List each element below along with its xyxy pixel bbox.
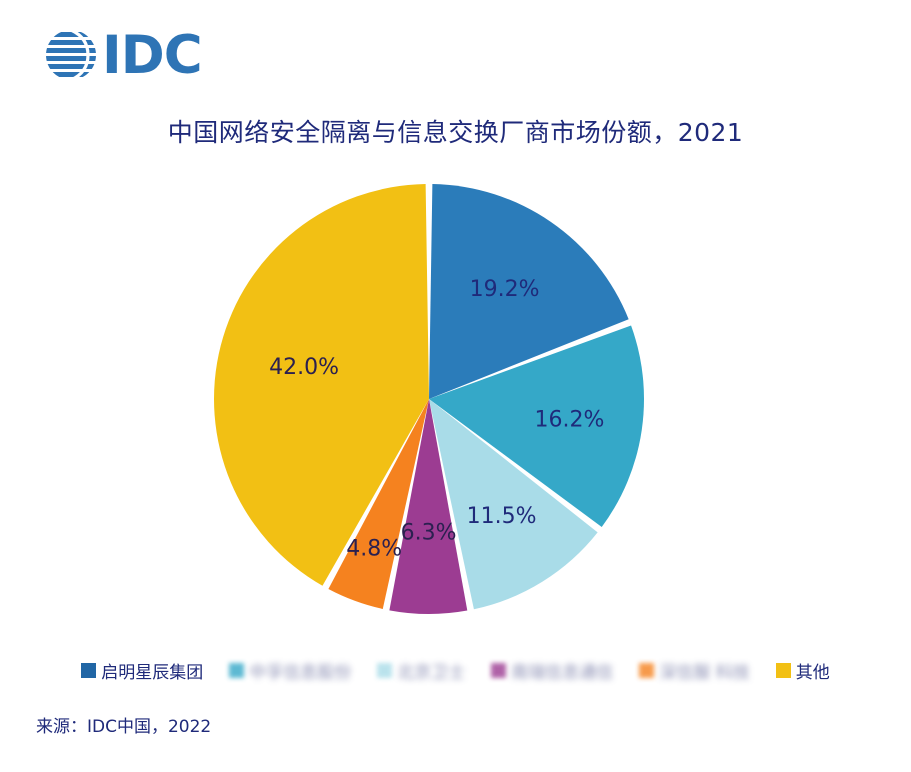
pie-chart: 19.2%16.2%11.5%6.3%4.8%42.0% xyxy=(180,160,680,640)
pie-slice-group xyxy=(214,184,644,614)
legend-item-label: 南瑞信息通信 xyxy=(511,658,613,683)
pie-slice-label: 4.8% xyxy=(346,536,402,561)
chart-legend: 启明星辰集团中孚信息股份北京卫士南瑞信息通信深信服 科技其他 xyxy=(0,658,911,683)
pie-slice-label: 11.5% xyxy=(467,504,537,529)
legend-item[interactable]: 启明星辰集团 xyxy=(81,658,203,683)
legend-swatch-icon xyxy=(377,663,392,678)
legend-item[interactable]: 南瑞信息通信 xyxy=(491,658,613,683)
pie-slice-label: 16.2% xyxy=(534,407,604,432)
legend-swatch-icon xyxy=(639,663,654,678)
legend-item-label: 其他 xyxy=(796,658,830,683)
source-note: 来源：IDC中国，2022 xyxy=(36,712,211,737)
legend-swatch-icon xyxy=(81,663,96,678)
legend-item[interactable]: 中孚信息股份 xyxy=(229,658,351,683)
legend-item-label: 启明星辰集团 xyxy=(101,658,203,683)
legend-swatch-icon xyxy=(491,663,506,678)
legend-item[interactable]: 其他 xyxy=(776,658,830,683)
idc-logo: IDC xyxy=(44,27,224,83)
logo-wordmark: IDC xyxy=(102,29,202,82)
idc-globe-icon xyxy=(44,28,98,82)
legend-swatch-icon xyxy=(229,663,244,678)
legend-item-label: 中孚信息股份 xyxy=(249,658,351,683)
legend-item-label: 北京卫士 xyxy=(397,658,465,683)
pie-slice-label: 19.2% xyxy=(470,277,540,302)
legend-item[interactable]: 深信服 科技 xyxy=(639,658,749,683)
pie-slice-label: 42.0% xyxy=(269,355,339,380)
legend-item[interactable]: 北京卫士 xyxy=(377,658,465,683)
pie-slice-label: 6.3% xyxy=(401,520,457,545)
legend-item-label: 深信服 科技 xyxy=(659,658,749,683)
legend-swatch-icon xyxy=(776,663,791,678)
page-title: 中国网络安全隔离与信息交换厂商市场份额，2021 xyxy=(0,113,911,149)
